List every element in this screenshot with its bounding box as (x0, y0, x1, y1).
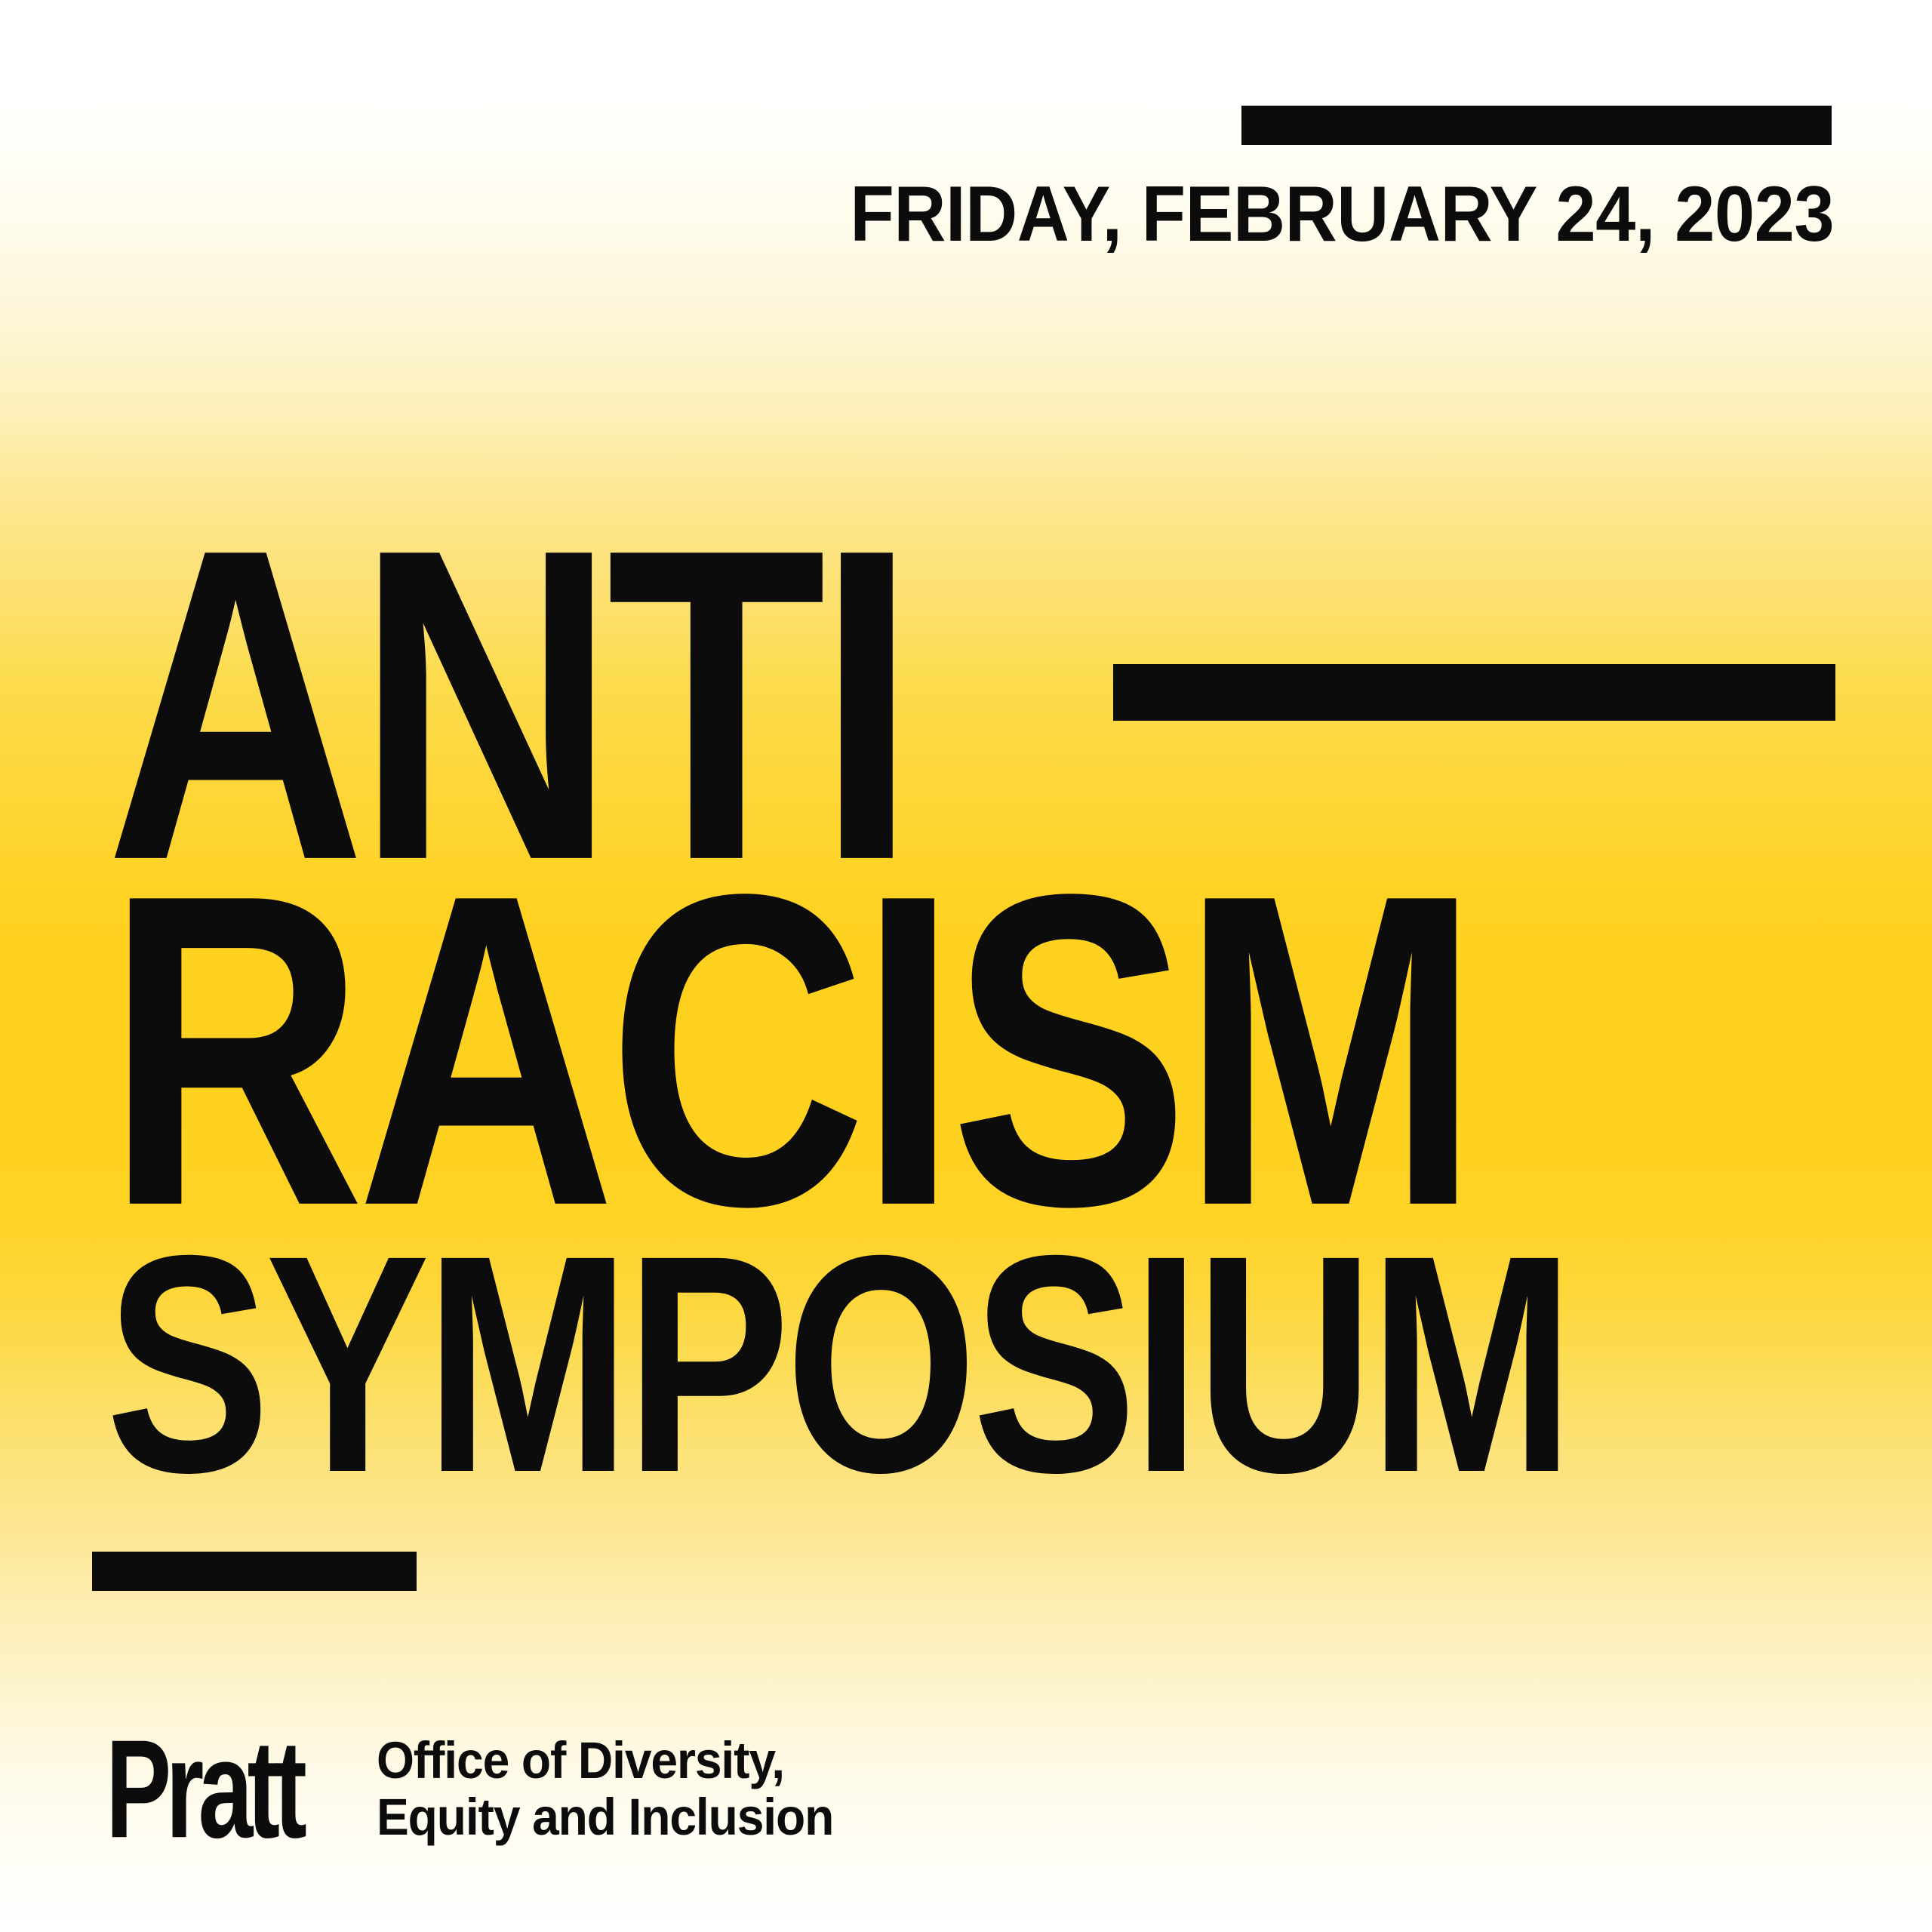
headline-block: ANTI RACISM SYMPOSIUM (106, 483, 1841, 838)
top-decorative-rule (1241, 106, 1832, 145)
pratt-wordmark-logo: Pratt (106, 1731, 301, 1849)
department-name: Office of Diversity, Equity and Inclusio… (377, 1733, 833, 1845)
event-date: FRIDAY, FEBRUARY 24, 2023 (850, 175, 1834, 254)
headline-line-symposium: SYMPOSIUM (106, 1209, 1570, 1518)
footer-logo-lockup: Pratt Office of Diversity, Equity and In… (106, 1730, 868, 1845)
poster-canvas: FRIDAY, FEBRUARY 24, 2023 ANTI RACISM SY… (0, 0, 1932, 1932)
department-name-line1: Office of Diversity, (377, 1733, 833, 1789)
em-dash-rule-icon (1113, 664, 1835, 721)
headline-line-anti-row: ANTI (106, 483, 1841, 838)
bottom-decorative-rule (92, 1552, 417, 1591)
department-name-line2: Equity and Inclusion (377, 1789, 833, 1846)
